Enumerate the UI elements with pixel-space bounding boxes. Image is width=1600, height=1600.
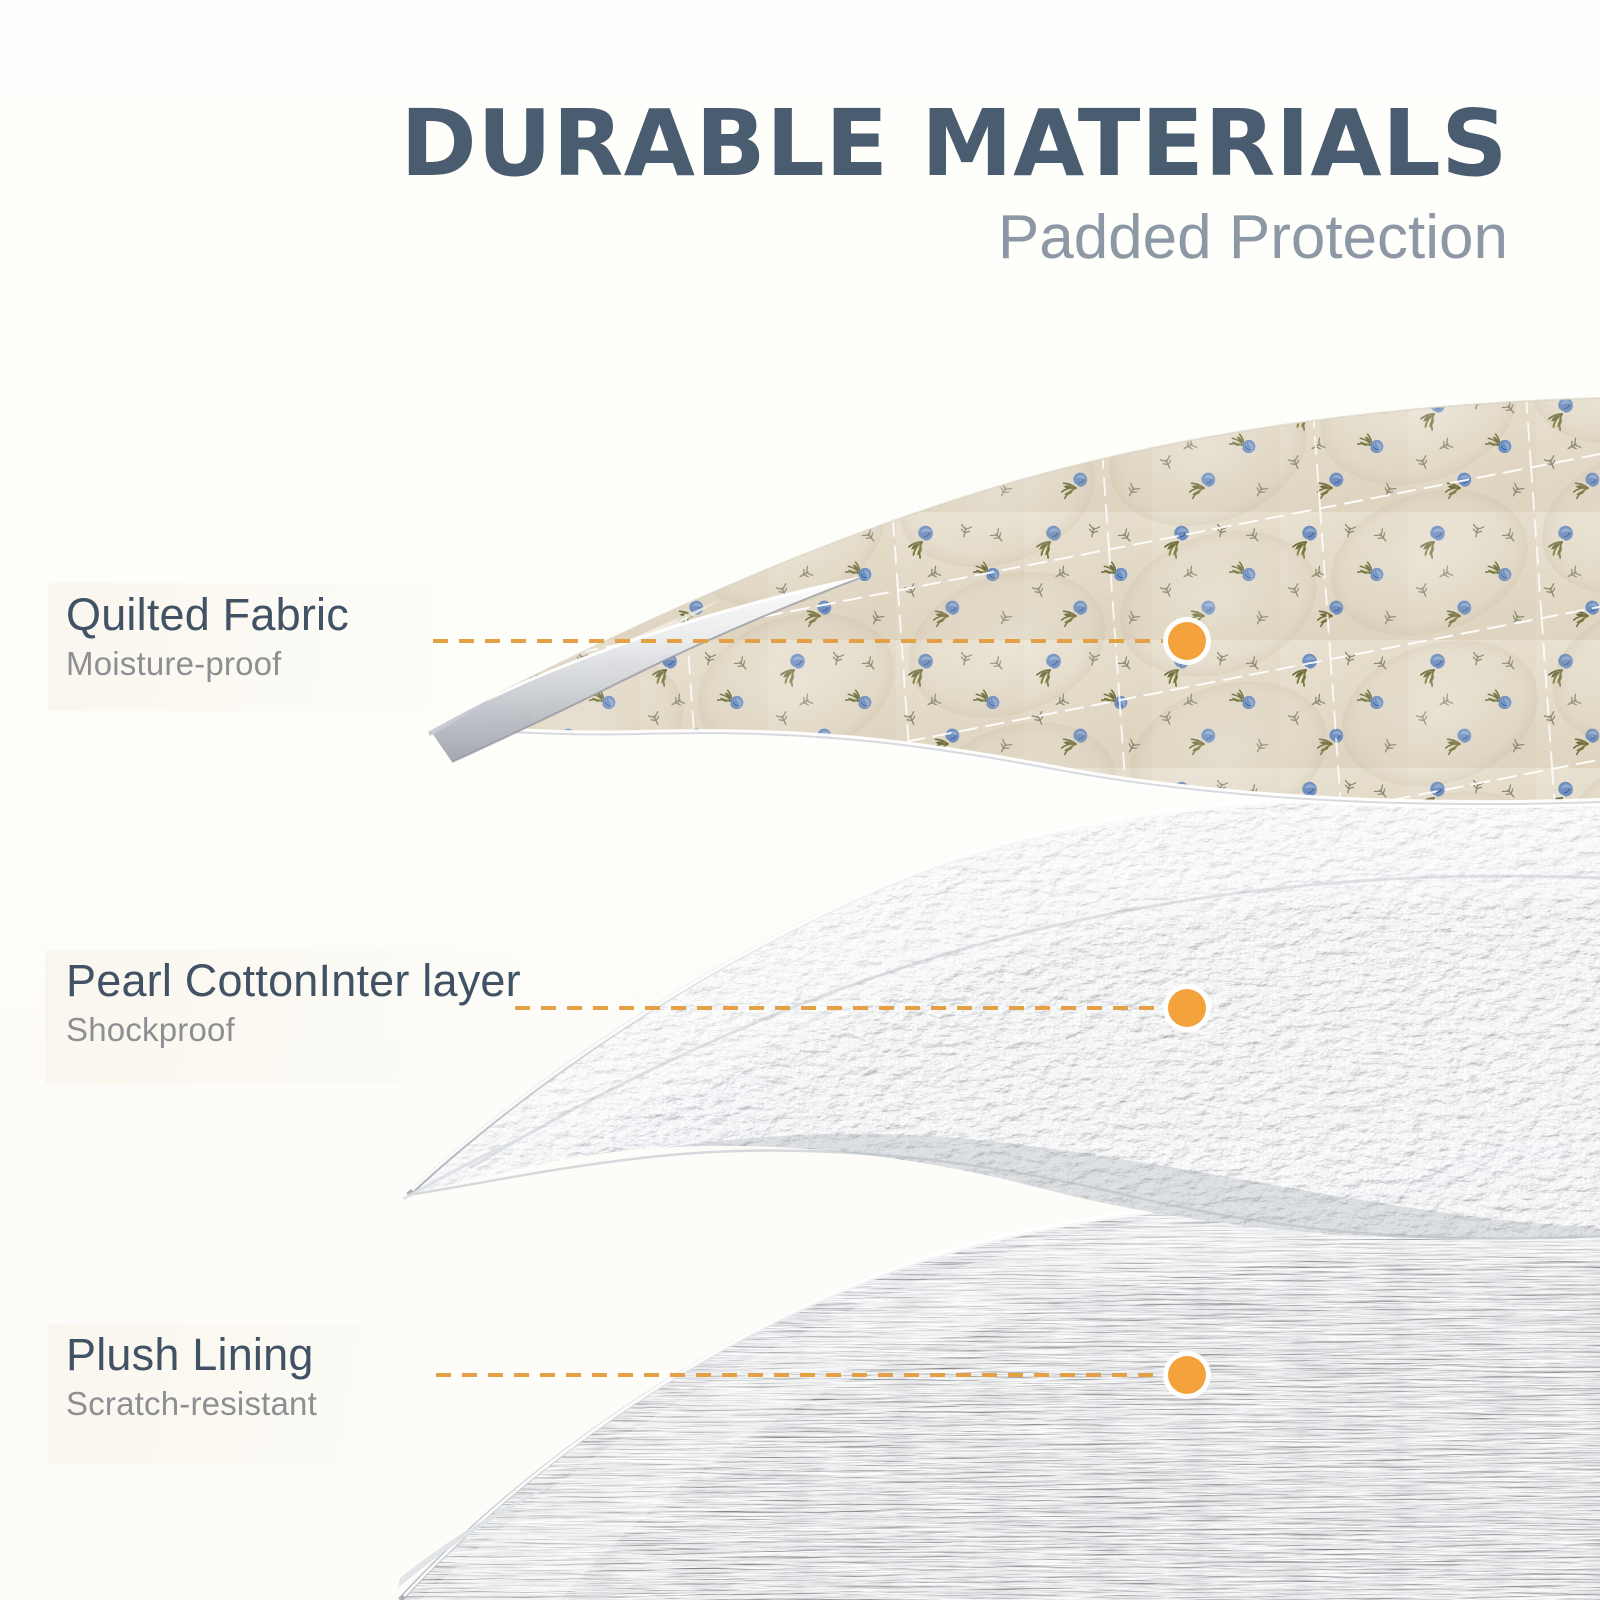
page-title: DURABLE MATERIALS <box>0 96 1508 193</box>
leader-line-pearl-cotton <box>515 1006 1173 1010</box>
header: DURABLE MATERIALS Padded Protection <box>0 0 1600 270</box>
callout-text-plush-lining: Plush Lining Scratch-resistant <box>66 1332 317 1420</box>
callout-dot-plush-lining[interactable] <box>1168 1356 1206 1394</box>
callout-subtitle-quilted-fabric: Moisture-proof <box>66 647 349 680</box>
leader-line-quilted-fabric <box>433 639 1173 643</box>
callout-title-quilted-fabric: Quilted Fabric <box>66 592 349 637</box>
layer-quilted-fabric <box>420 390 1600 820</box>
callout-subtitle-plush-lining: Scratch-resistant <box>66 1387 317 1420</box>
leader-line-plush-lining <box>436 1373 1173 1377</box>
callout-text-quilted-fabric: Quilted Fabric Moisture-proof <box>66 592 349 680</box>
layer-pearl-cotton <box>380 770 1600 1270</box>
callout-subtitle-pearl-cotton: Shockproof <box>66 1013 521 1046</box>
callout-text-pearl-cotton: Pearl CottonInter layer Shockproof <box>66 958 521 1046</box>
page-subtitle: Padded Protection <box>0 205 1508 270</box>
callout-title-plush-lining: Plush Lining <box>66 1332 317 1377</box>
callout-dot-quilted-fabric[interactable] <box>1168 622 1206 660</box>
infographic-canvas: DURABLE MATERIALS Padded Protection Quil… <box>0 0 1600 1600</box>
callout-dot-pearl-cotton[interactable] <box>1168 989 1206 1027</box>
callout-title-pearl-cotton: Pearl CottonInter layer <box>66 958 521 1003</box>
